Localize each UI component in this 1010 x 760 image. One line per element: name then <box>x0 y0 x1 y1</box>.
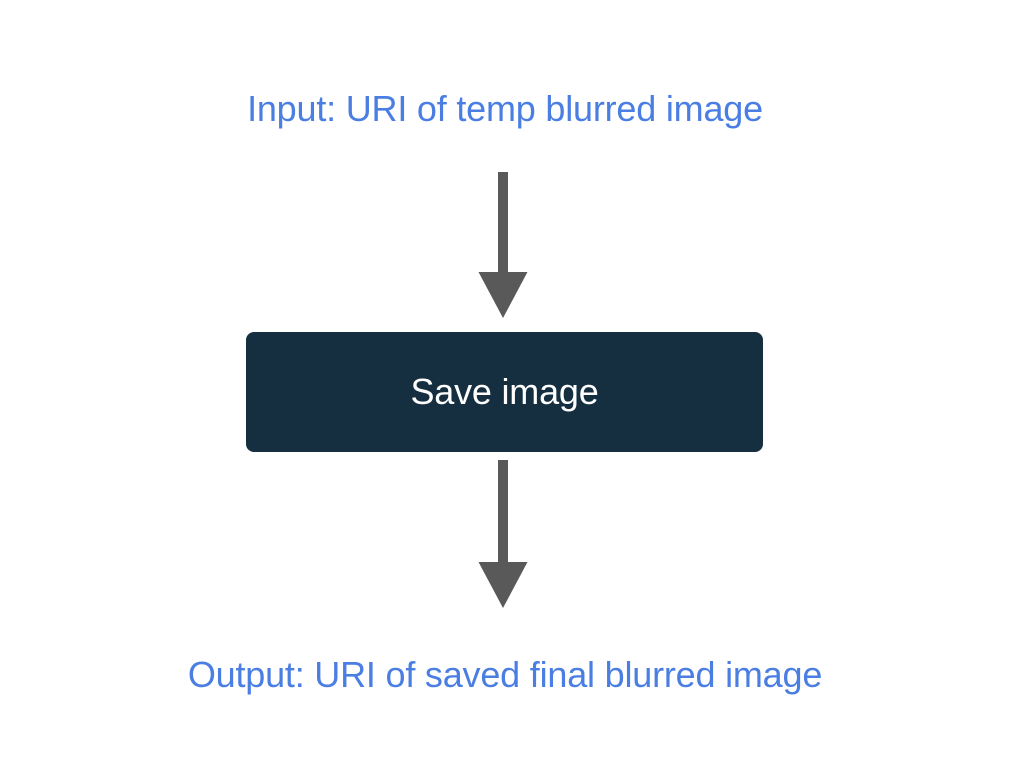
diagram-canvas: Input: URI of temp blurred image Save im… <box>0 0 1010 760</box>
process-node-save-image[interactable]: Save image <box>246 332 763 452</box>
output-label: Output: URI of saved final blurred image <box>0 656 1010 694</box>
input-label: Input: URI of temp blurred image <box>0 90 1010 128</box>
arrow-input-to-process <box>479 172 528 318</box>
process-node-label: Save image <box>410 374 598 410</box>
arrow-process-to-output <box>479 460 528 608</box>
